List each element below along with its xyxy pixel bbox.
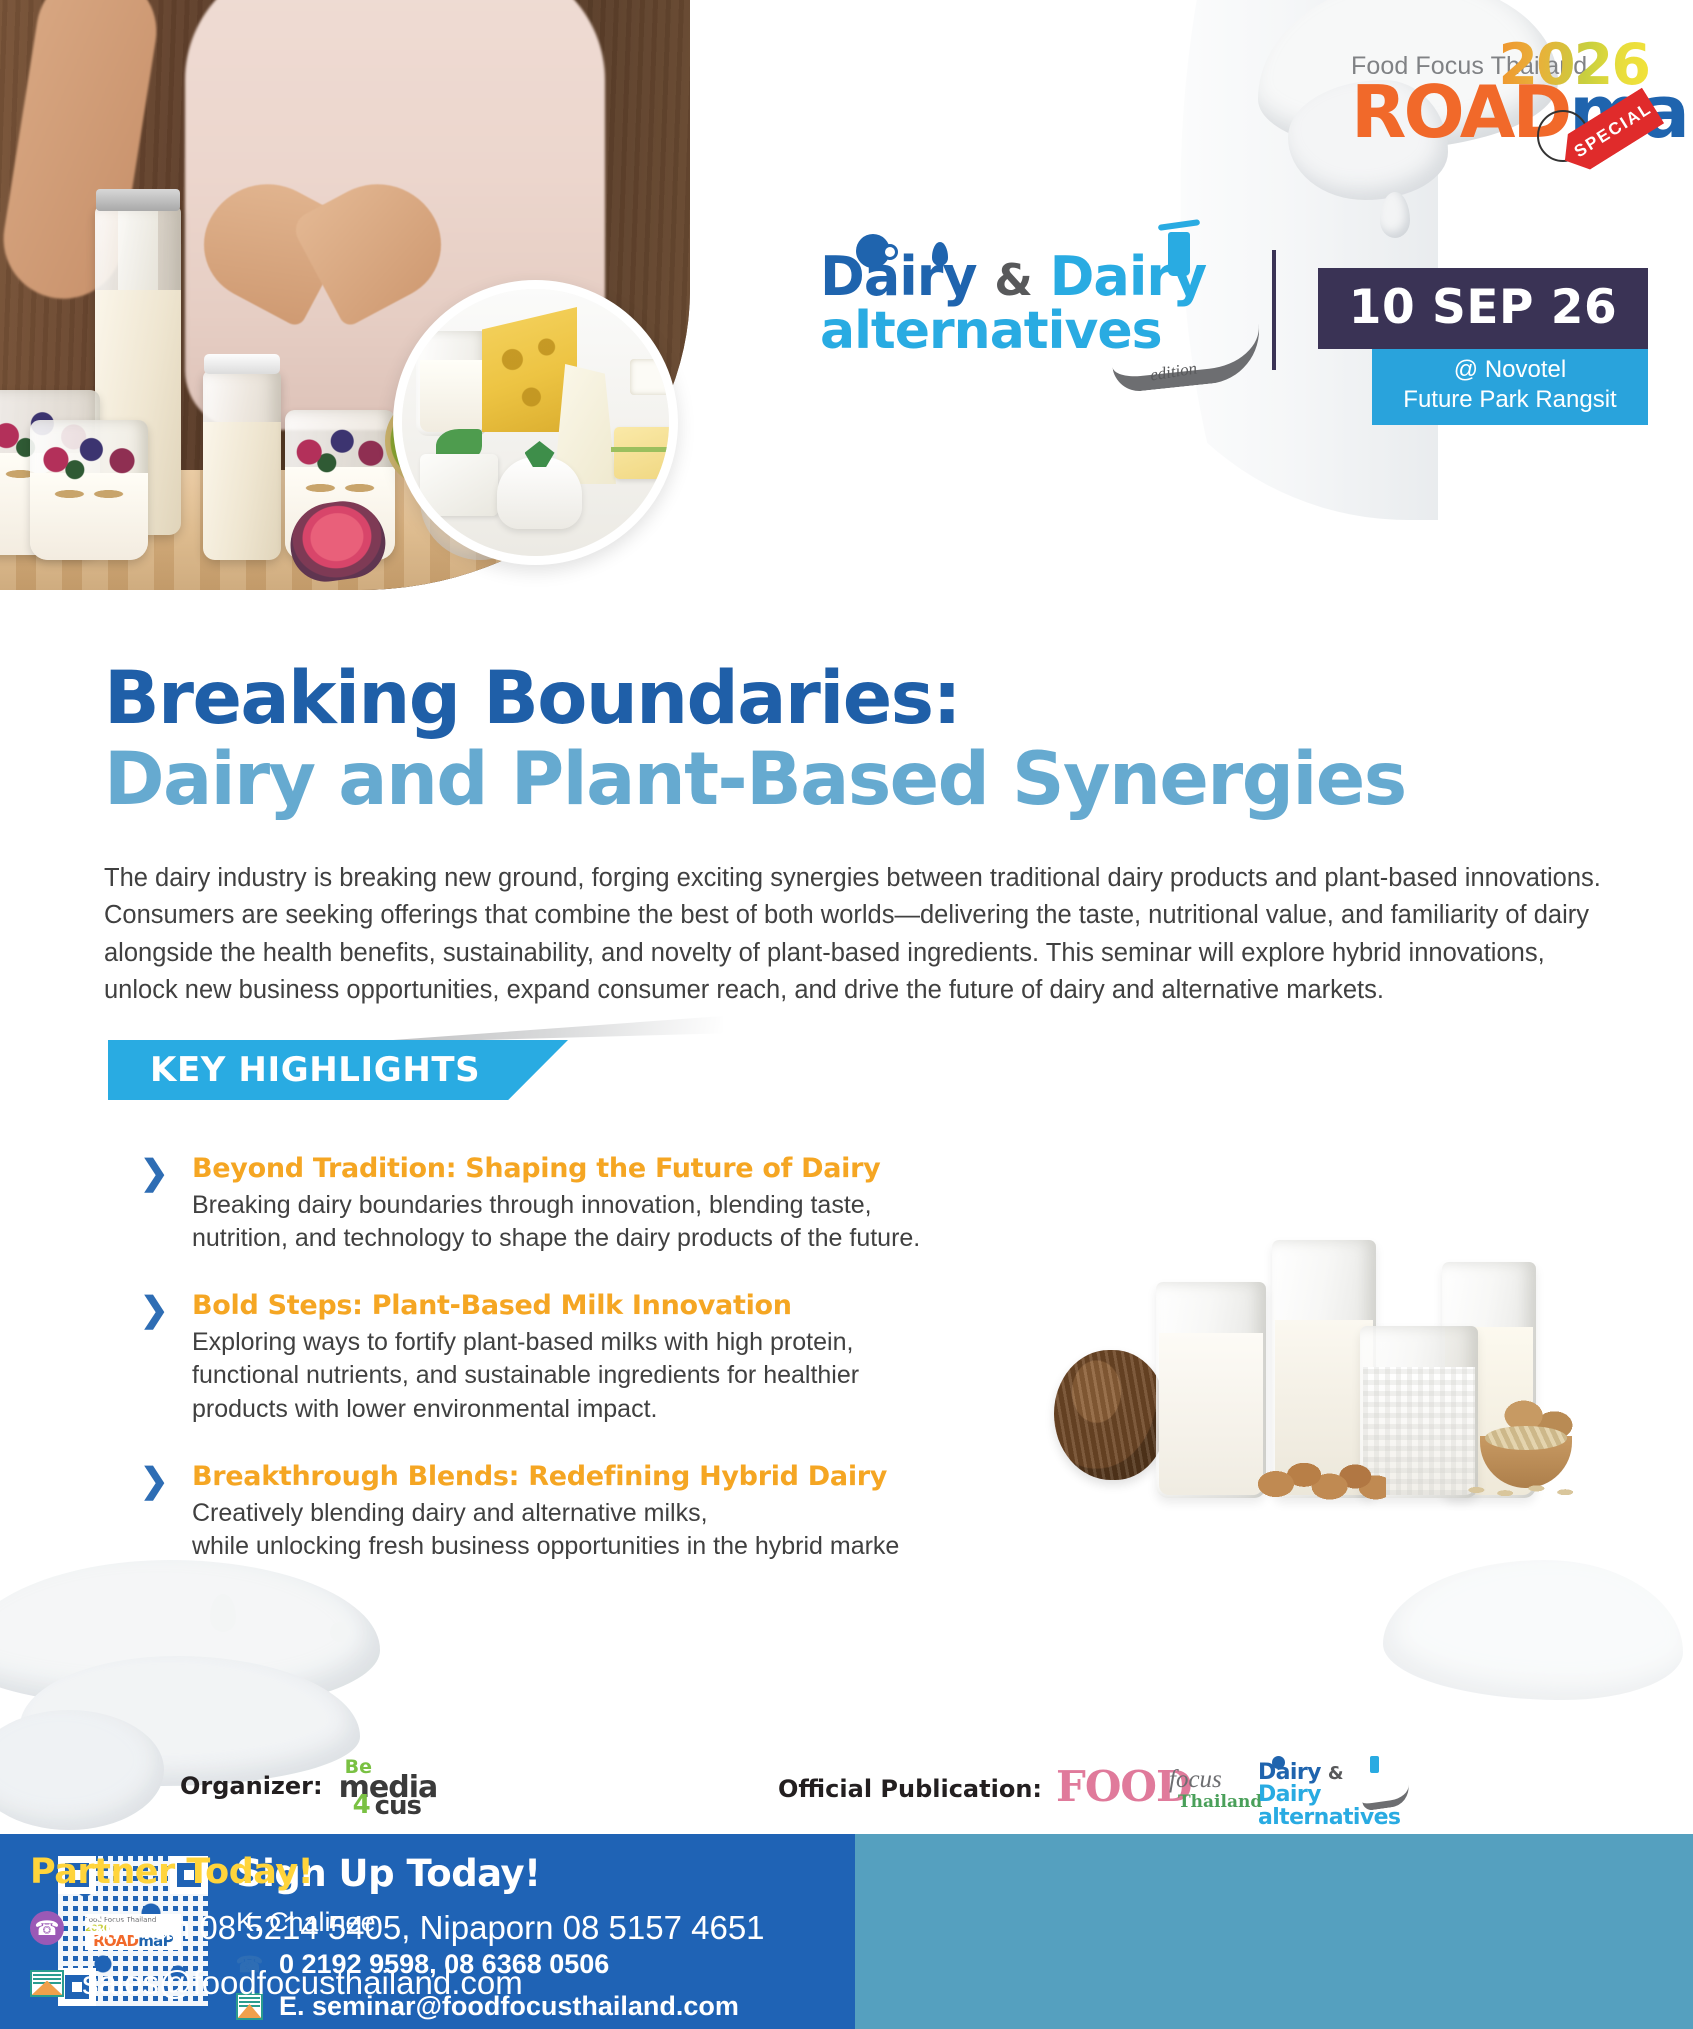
milk-bottle-icon <box>1168 232 1190 276</box>
headline-line-2: Dairy and Plant-Based Synergies <box>104 741 1624 818</box>
partner-email-row[interactable]: sales@foodfocusthailand.com <box>30 1964 765 2002</box>
twine-bow <box>54 479 124 509</box>
vertical-divider <box>1272 250 1276 370</box>
organizer-label: Organizer: <box>180 1772 323 1800</box>
highlight-description: Exploring ways to fortify plant-based mi… <box>192 1326 940 1426</box>
coconut <box>1054 1350 1166 1480</box>
partner-title: Partner Today! <box>30 1852 765 1892</box>
organizer-block: Organizer: Be media 4 cus <box>180 1760 425 1812</box>
berry-topping <box>30 426 148 482</box>
key-highlights-band: KEY HIGHLIGHTS <box>108 1040 568 1100</box>
milk-fill <box>1159 1333 1263 1495</box>
roadmap-road-text: ROAD <box>1351 70 1569 154</box>
hero-section: Food Focus Thailand 2026 ROADmaP SPECIAL… <box>0 0 1693 600</box>
event-date-badge: 10 SEP 26 @ Novotel Future Park Rangsit <box>1318 268 1648 425</box>
mini-alternatives-word: alternatives <box>1258 1806 1408 1829</box>
venue-line-1: @ Novotel <box>1372 355 1648 385</box>
intro-paragraph: The dairy industry is breaking new groun… <box>104 860 1614 1010</box>
list-item: ❯ Beyond Tradition: Shaping the Future o… <box>140 1152 940 1255</box>
highlight-title: Bold Steps: Plant-Based Milk Innovation <box>192 1289 940 1323</box>
dairy-word-1: Dairy <box>820 245 977 308</box>
footer: Food Focus Thailand 2026 ROADmaP Sign Up… <box>0 1834 1693 2029</box>
feta-block <box>420 454 498 516</box>
venue-line-2: Future Park Rangsit <box>1372 385 1648 415</box>
partner-text-block: Partner Today! ☎ Siriwan 08 5214 5405, N… <box>30 1852 765 2002</box>
official-publication-block: Official Publication: FOOD focus Thailan… <box>778 1762 1408 1816</box>
twine-bow <box>305 473 375 503</box>
highlight-title: Beyond Tradition: Shaping the Future of … <box>192 1152 940 1186</box>
milk-jug <box>416 331 488 436</box>
milk-droplet <box>210 1594 236 1632</box>
milk-bottle-icon <box>1370 1756 1379 1773</box>
event-date: 10 SEP 26 <box>1318 268 1648 349</box>
highlight-description: Creatively blending dairy and alternativ… <box>192 1497 940 1564</box>
bottle-cap <box>204 354 280 374</box>
bemedia-cus-text: cus <box>375 1791 421 1821</box>
list-item: ❯ Breakthrough Blends: Redefining Hybrid… <box>140 1460 940 1563</box>
key-highlights-list: ❯ Beyond Tradition: Shaping the Future o… <box>140 1152 940 1597</box>
email-icon <box>30 1970 64 1997</box>
chevron-right-icon: ❯ <box>140 1295 174 1325</box>
focus-text: focus <box>1169 1766 1222 1794</box>
partner-email: sales@foodfocusthailand.com <box>82 1964 523 2002</box>
headline-line-1: Breaking Boundaries: <box>104 660 1624 737</box>
milk-blob-icon <box>1272 1756 1285 1769</box>
key-highlights-banner: KEY HIGHLIGHTS <box>108 1040 598 1100</box>
list-item: ❯ Bold Steps: Plant-Based Milk Innovatio… <box>140 1289 940 1426</box>
bottle-cap <box>96 189 180 211</box>
food-focus-thailand-logo: FOOD focus Thailand <box>1056 1762 1226 1816</box>
oat-flakes <box>1462 1482 1582 1498</box>
milk-drop-icon <box>932 242 948 266</box>
mini-dairy-alternatives-logo: Dairy & Dairy alternatives <box>1258 1762 1408 1816</box>
berry-topping <box>285 416 395 476</box>
partner-phone-row[interactable]: ☎ Siriwan 08 5214 5405, Nipaporn 08 5157… <box>30 1909 765 1947</box>
almonds <box>1258 1458 1386 1500</box>
bemedia-four-text: 4 <box>353 1790 371 1820</box>
page-title: Breaking Boundaries: Dairy and Plant-Bas… <box>104 660 1624 819</box>
thailand-text: Thailand <box>1178 1792 1262 1812</box>
roadmap-logo: Food Focus Thailand 2026 ROADmaP SPECIAL <box>1351 26 1651 146</box>
plant-based-milk-photo <box>1010 1200 1570 1520</box>
milk-droplet <box>330 1622 350 1642</box>
phone-icon: ☎ <box>30 1911 64 1945</box>
ampersand: & <box>1328 1763 1343 1784</box>
milk-glass-short-left <box>1156 1282 1266 1498</box>
milk-bubble-icon <box>882 244 898 260</box>
chevron-right-icon: ❯ <box>140 1158 174 1188</box>
ricotta-bowl <box>497 457 582 529</box>
chevron-right-icon: ❯ <box>140 1466 174 1496</box>
bemedia-focus-logo: Be media 4 cus <box>339 1760 425 1812</box>
footer-partner-panel <box>855 1834 1693 2029</box>
official-publication-label: Official Publication: <box>778 1775 1042 1803</box>
highlight-title: Breakthrough Blends: Redefining Hybrid D… <box>192 1460 940 1494</box>
ampersand: & <box>994 255 1031 306</box>
butter-block <box>614 427 678 479</box>
splash-blob <box>1383 1560 1683 1700</box>
yogurt-jar <box>30 420 148 560</box>
highlight-description: Breaking dairy boundaries through innova… <box>192 1189 940 1256</box>
milk-fill <box>203 422 281 560</box>
cheese-photo-circle <box>393 280 678 565</box>
ribbon-tail-decor <box>338 1016 723 1044</box>
dairy-word-2: Dairy <box>1258 1782 1321 1807</box>
envelope-border <box>30 1970 64 1997</box>
event-venue: @ Novotel Future Park Rangsit <box>1372 349 1648 425</box>
partners-row: Organizer: Be media 4 cus Official Publi… <box>0 1738 1693 1834</box>
milk-bottle-short <box>203 370 281 560</box>
key-highlights-label: KEY HIGHLIGHTS <box>108 1050 480 1090</box>
partner-phone: Siriwan 08 5214 5405, Nipaporn 08 5157 4… <box>82 1909 765 1947</box>
dairy-alternatives-logo: Dairy & Dairy alternatives edition <box>820 250 1250 385</box>
